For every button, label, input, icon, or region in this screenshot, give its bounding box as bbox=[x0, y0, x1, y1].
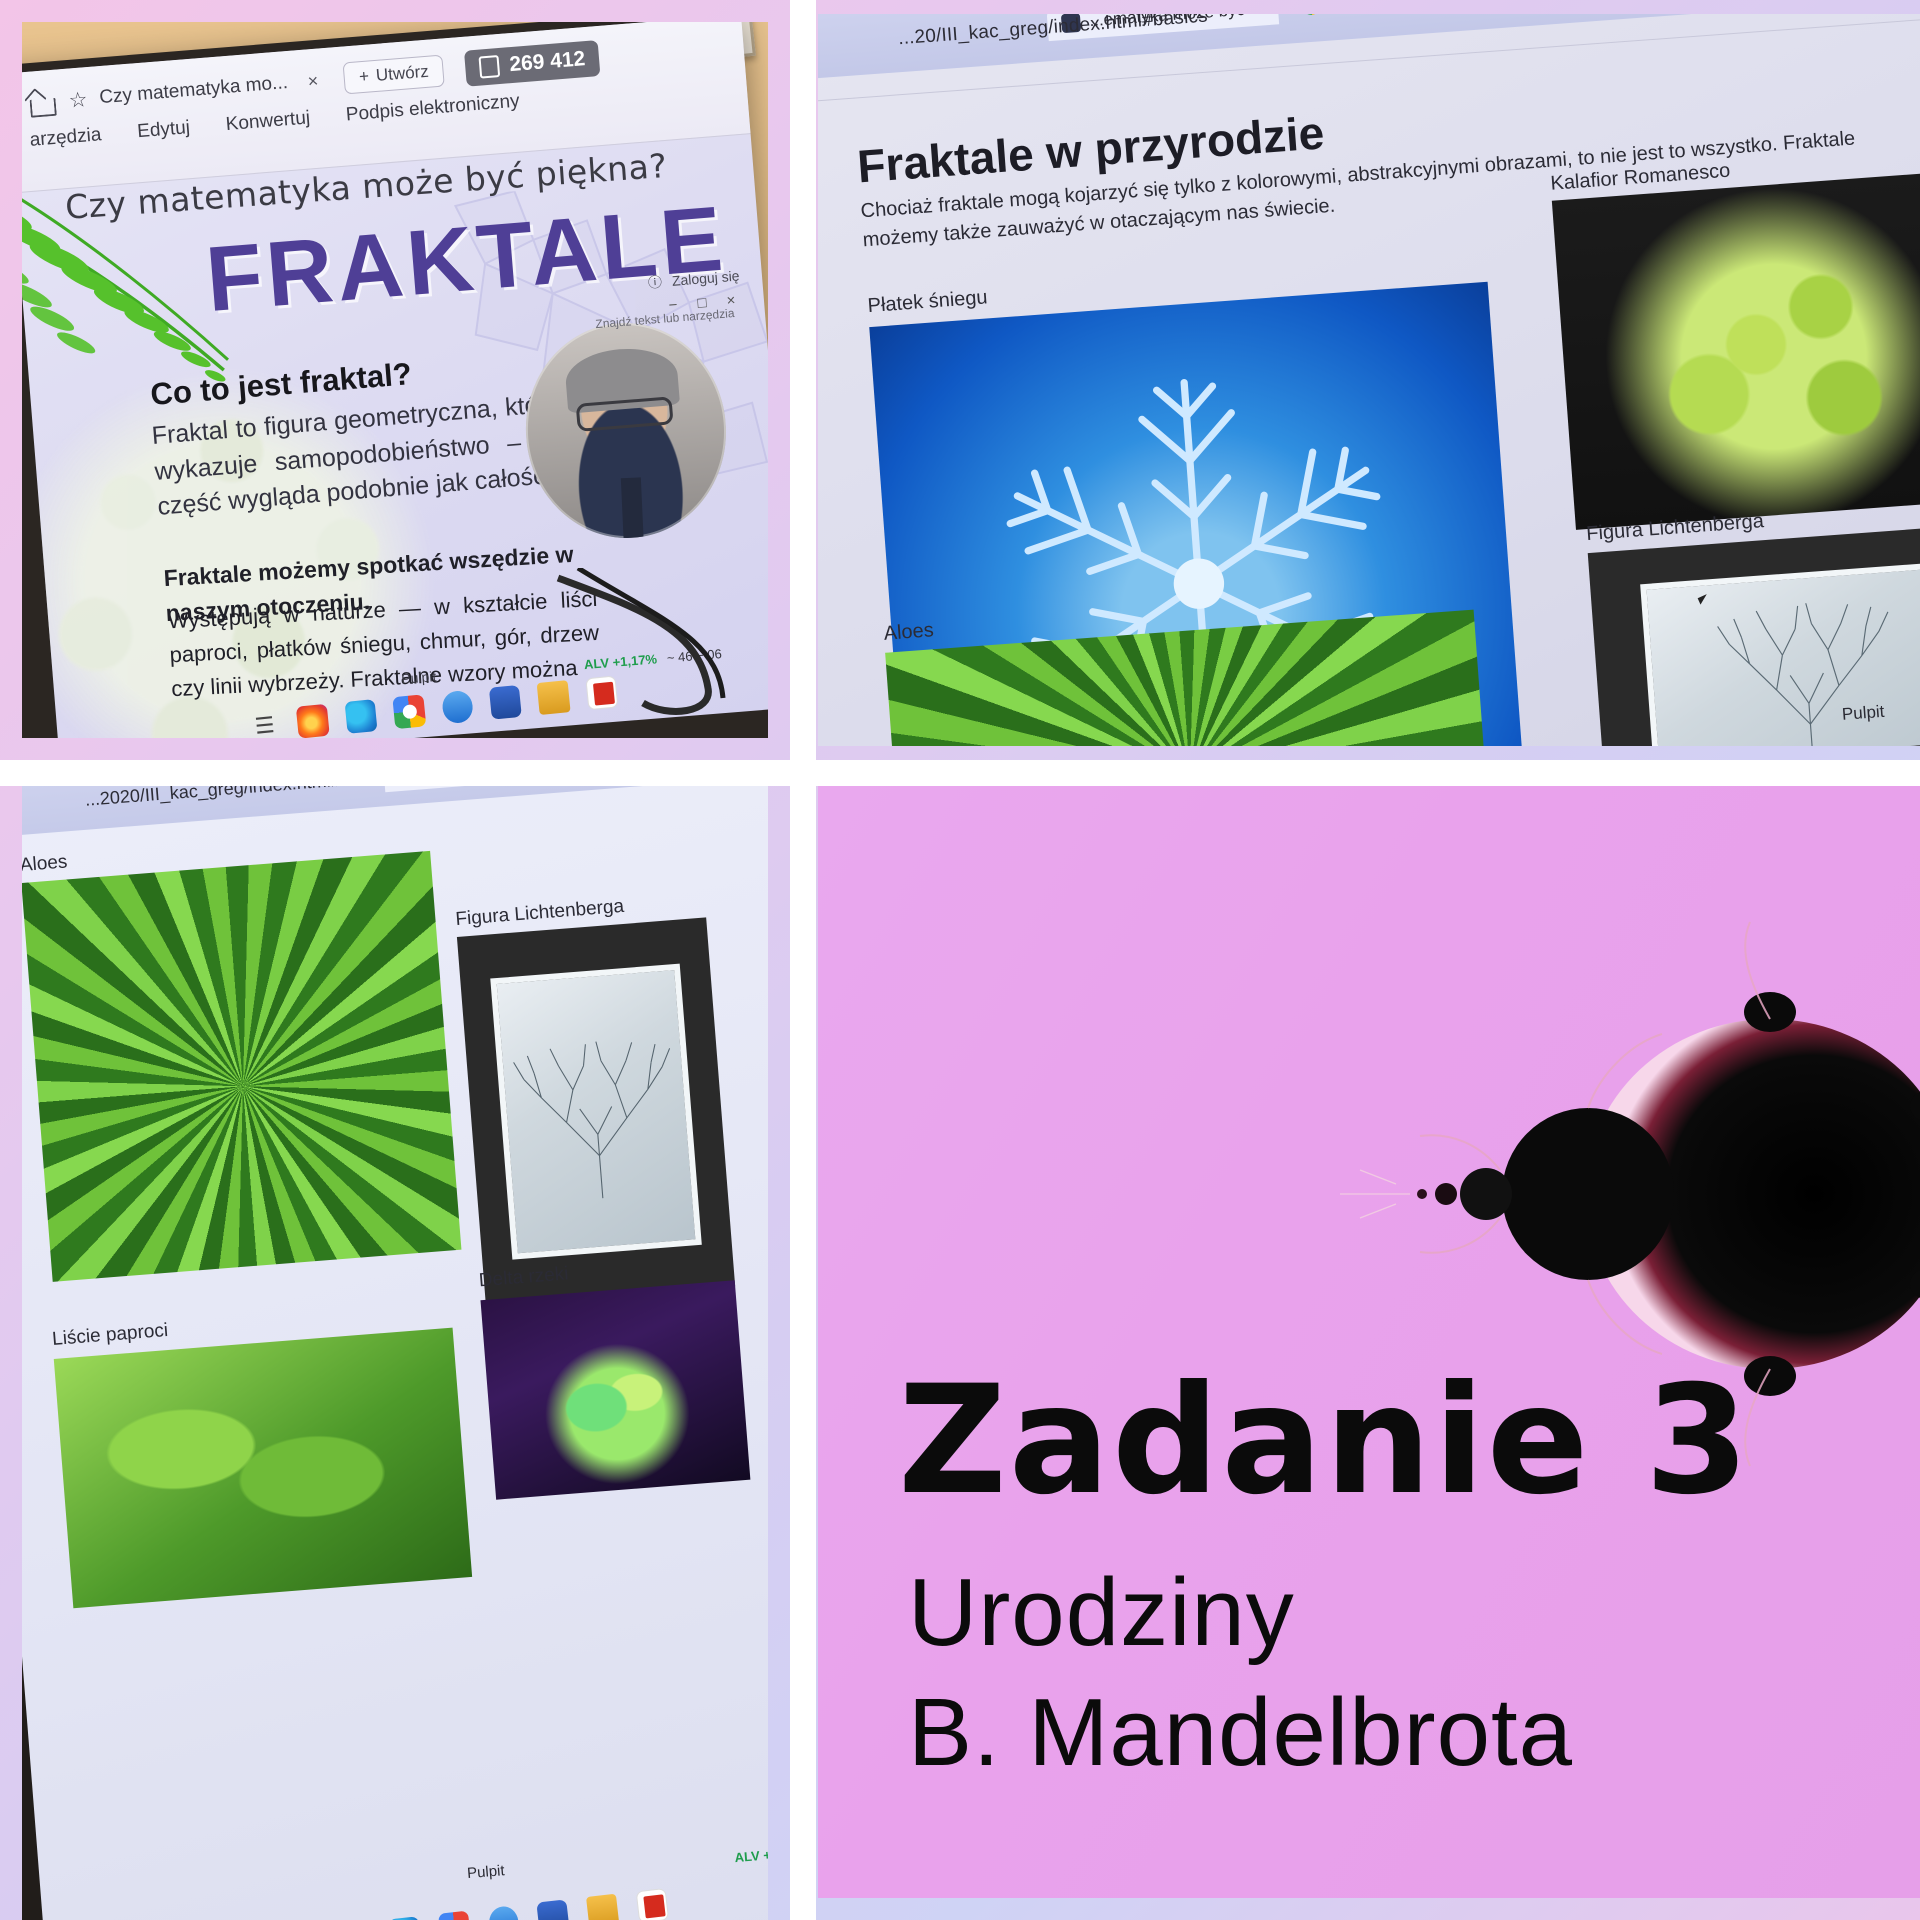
edge-icon[interactable] bbox=[388, 1916, 421, 1920]
taskbar-3: ☰ bbox=[289, 1882, 669, 1920]
tv-screen-3: ...matematyka może być × przykłady frakt… bbox=[22, 778, 768, 1920]
caption-aloes: Aloes bbox=[22, 851, 68, 877]
slide-zadanie-3: Zadanie 3 Urodziny B. Mandelbrota bbox=[818, 774, 1920, 1898]
teams-icon[interactable] bbox=[441, 690, 474, 725]
word-icon[interactable] bbox=[489, 685, 522, 720]
star-icon[interactable]: ☆ bbox=[68, 87, 89, 113]
home-icon[interactable] bbox=[26, 89, 58, 117]
photo-zadanie-3: Zadanie 3 Urodziny B. Mandelbrota bbox=[818, 774, 1920, 1898]
slide-subtitle-line-1: Urodziny bbox=[908, 1558, 1295, 1668]
caption-liscie-paproci: Liście paproci bbox=[51, 1320, 169, 1351]
web-page-2: Fraktale w przyrodzie Chociaż fraktale m… bbox=[818, 22, 1920, 746]
collage-cell-3: ...matematyka może być × przykłady frakt… bbox=[0, 760, 790, 1920]
web-page-3: Aloes Figura Lichtenberga bbox=[22, 778, 768, 1920]
classroom-wall-2: ...ematyka może być × przykłady fraktali… bbox=[818, 14, 1920, 746]
desktop-label-3: Pulpit bbox=[466, 1862, 505, 1882]
pdf-icon[interactable] bbox=[635, 1888, 668, 1920]
cable bbox=[548, 568, 768, 718]
acrobat-tab-title[interactable]: Czy matematyka mo... bbox=[98, 73, 288, 110]
image-lichtenberg bbox=[457, 917, 735, 1305]
photo-fraktale-w-przyrodzie: ...ematyka może być × przykłady fraktali… bbox=[818, 14, 1920, 746]
close-icon[interactable]: × bbox=[307, 71, 319, 93]
stock-ticker: ALV +1,1% bbox=[734, 1845, 768, 1865]
browser-tab-1[interactable]: przykłady fraktali - Szukaj × bbox=[1286, 14, 1555, 23]
collage-gutter-vertical bbox=[790, 0, 816, 1920]
create-button[interactable]: + Utwórz bbox=[343, 55, 445, 95]
word-icon[interactable] bbox=[536, 1899, 569, 1920]
collage-cell-4: Zadanie 3 Urodziny B. Mandelbrota bbox=[790, 760, 1920, 1920]
teams-icon[interactable] bbox=[487, 1905, 520, 1920]
caption-aloes: Aloes bbox=[883, 619, 935, 646]
counter-value: 269 412 bbox=[508, 48, 586, 78]
system-tray-3: ALV +1,1% bbox=[734, 1845, 768, 1865]
chrome-icon[interactable] bbox=[392, 694, 425, 729]
edge-icon[interactable] bbox=[344, 699, 377, 734]
lichtenberg-block bbox=[490, 964, 701, 1259]
counter-badge: 269 412 bbox=[464, 41, 600, 88]
folder-icon[interactable] bbox=[586, 1894, 619, 1920]
classroom-wall-3: ...matematyka może być × przykłady frakt… bbox=[22, 778, 768, 1920]
photo-aloes-lichtenberg: ...matematyka może być × przykłady frakt… bbox=[22, 778, 768, 1920]
document-icon bbox=[479, 56, 501, 80]
image-aloes bbox=[22, 851, 461, 1282]
menu-item-narzedzia[interactable]: arzędzia bbox=[29, 125, 102, 153]
tv-screen-2: ...ematyka może być × przykłady fraktali… bbox=[818, 14, 1920, 746]
chrome-icon[interactable] bbox=[438, 1911, 471, 1920]
info-icon: ⓘ bbox=[647, 272, 663, 293]
image-river-delta bbox=[480, 1280, 750, 1499]
slide-title-zadanie: Zadanie 3 bbox=[898, 1354, 1751, 1528]
image-romanesco bbox=[1552, 170, 1920, 530]
collage-cell-1: ☆ Czy matematyka mo... × + Utwórz 269 41… bbox=[0, 0, 790, 760]
desktop-label-2: Pulpit bbox=[1841, 701, 1885, 724]
google-favicon bbox=[1301, 14, 1321, 15]
plus-icon: + bbox=[358, 67, 370, 88]
collage-cell-2: ...ematyka może być × przykłady fraktali… bbox=[790, 0, 1920, 760]
photo-presentation-intro: ☆ Czy matematyka mo... × + Utwórz 269 41… bbox=[22, 22, 768, 738]
apps-icon[interactable]: ☰ bbox=[248, 708, 281, 738]
signin-label: Zaloguj się bbox=[671, 268, 740, 289]
menu-item-konwertuj[interactable]: Konwertuj bbox=[225, 108, 311, 137]
slide-subtitle-line-2: B. Mandelbrota bbox=[908, 1678, 1573, 1788]
close-icon[interactable]: × bbox=[1253, 14, 1264, 19]
caption-platek-sniegu: Płatek śniegu bbox=[867, 286, 988, 318]
create-label: Utwórz bbox=[375, 62, 429, 86]
photo-collage: ☆ Czy matematyka mo... × + Utwórz 269 41… bbox=[0, 0, 1920, 1920]
collage-gutter-horizontal bbox=[0, 760, 1920, 786]
firefox-icon[interactable] bbox=[296, 704, 329, 738]
image-fern-leaves bbox=[53, 1327, 471, 1608]
menu-item-edytuj[interactable]: Edytuj bbox=[136, 118, 190, 144]
